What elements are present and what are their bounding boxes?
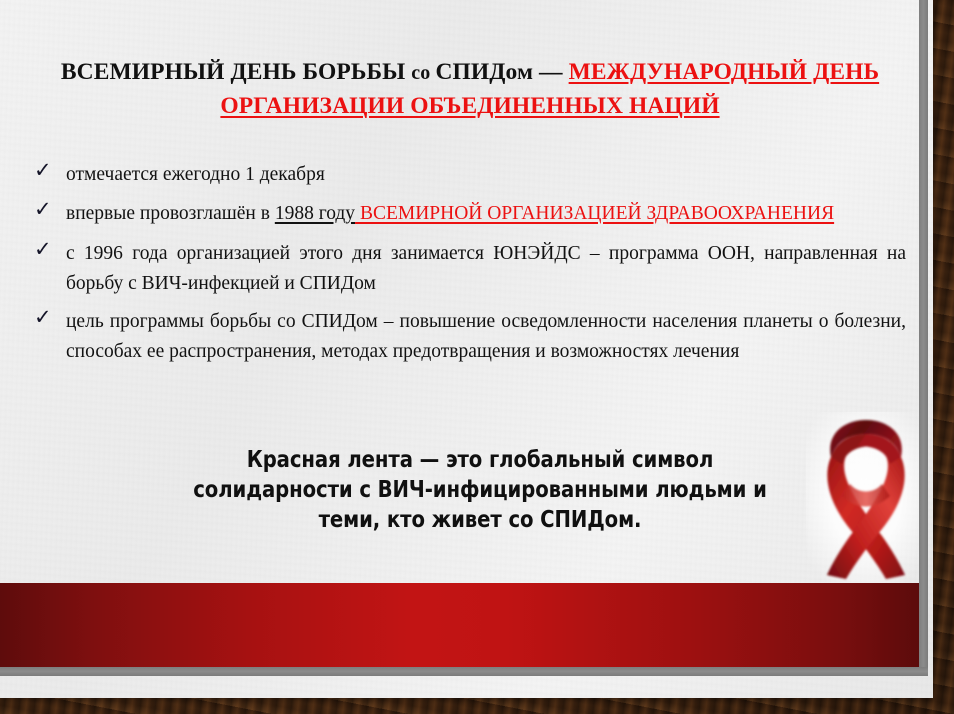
checkmark-icon: ✓ [34, 197, 52, 221]
bullet-list: ✓ отмечается ежегодно 1 декабря ✓ впервы… [26, 160, 906, 371]
footer-red-band [0, 583, 919, 667]
checkmark-icon: ✓ [34, 158, 52, 182]
bullet2-who-underlined-red: ВСЕМИРНОЙ ОРГАНИЗАЦИЕЙ ЗДРАВООХРАНЕНИЯ [355, 203, 834, 224]
title-dash: — [533, 59, 569, 85]
slide-title: ВСЕМИРНЫЙ ДЕНЬ БОРЬБЫ со СПИДом — МЕЖДУН… [60, 56, 880, 123]
bullet2-year-underlined: 1988 году [275, 203, 355, 224]
title-segment-black: ВСЕМИРНЫЙ ДЕНЬ БОРЬБЫ [61, 59, 411, 85]
list-item: ✓ отмечается ежегодно 1 декабря [26, 160, 906, 190]
title-segment-smallcaps: со [411, 62, 435, 84]
list-item-text: впервые провозглашён в 1988 году ВСЕМИРН… [66, 199, 906, 229]
red-aids-awareness-ribbon-icon [806, 412, 926, 584]
frame-rail-right [919, 0, 928, 676]
list-item-text: цель программы борьбы со СПИДом – повыше… [66, 307, 906, 367]
list-item: ✓ цель программы борьбы со СПИДом – повы… [26, 307, 906, 367]
checkmark-icon: ✓ [34, 237, 52, 261]
list-item-text: с 1996 года организацией этого дня заним… [66, 239, 906, 299]
list-item: ✓ с 1996 года организацией этого дня зан… [26, 239, 906, 299]
list-item: ✓ впервые провозглашён в 1988 году ВСЕМИ… [26, 199, 906, 229]
ribbon-caption: Красная лента — это глобальный символ со… [173, 444, 787, 534]
frame-rail-bottom [0, 667, 928, 676]
checkmark-icon: ✓ [34, 305, 52, 329]
bullet2-lead: впервые провозглашён в [66, 203, 275, 224]
presentation-slide: ВСЕМИРНЫЙ ДЕНЬ БОРЬБЫ со СПИДом — МЕЖДУН… [0, 0, 933, 698]
red-ribbon-image [806, 412, 926, 584]
list-item-text: отмечается ежегодно 1 декабря [66, 160, 906, 190]
title-segment-black-2: СПИДом [435, 59, 533, 85]
